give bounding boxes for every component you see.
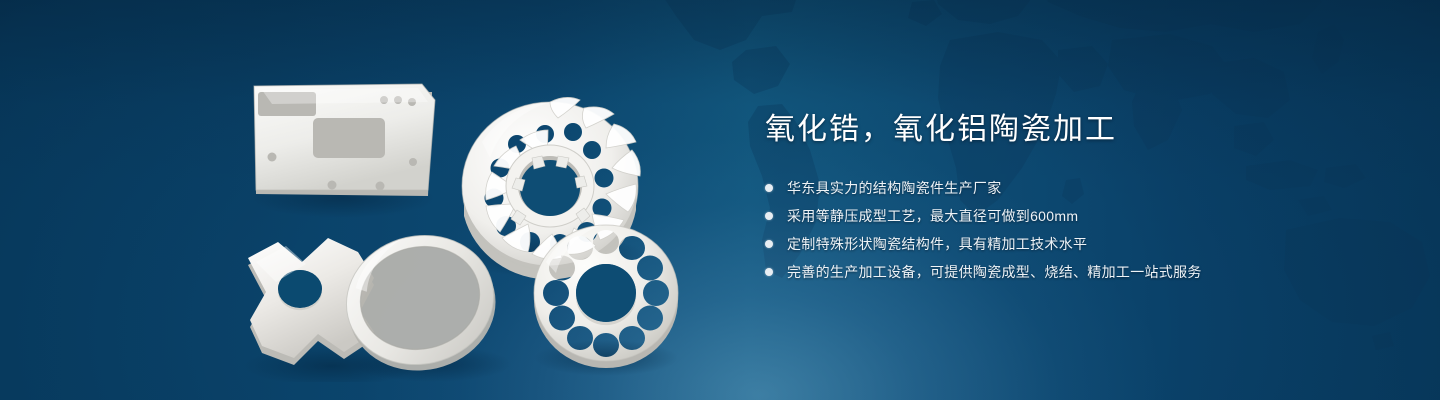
list-item-label: 华东具实力的结构陶瓷件生产厂家 [787,178,1002,198]
ceramic-hero-banner: 氧化锆，氧化铝陶瓷加工 华东具实力的结构陶瓷件生产厂家 采用等静压成型工艺，最大… [0,0,1440,400]
bullet-dot-icon [765,184,773,192]
bullet-dot-icon [765,212,773,220]
list-item: 定制特殊形状陶瓷结构件，具有精加工技术水平 [765,234,1385,254]
page-title: 氧化锆，氧化铝陶瓷加工 [765,110,1385,150]
bullet-dot-icon [765,240,773,248]
list-item-label: 定制特殊形状陶瓷结构件，具有精加工技术水平 [787,234,1087,254]
list-item: 完善的生产加工设备，可提供陶瓷成型、烧结、精加工一站式服务 [765,262,1385,282]
list-item: 华东具实力的结构陶瓷件生产厂家 [765,178,1385,198]
list-item-label: 采用等静压成型工艺，最大直径可做到600mm [787,206,1078,226]
bullet-dot-icon [765,268,773,276]
feature-list: 华东具实力的结构陶瓷件生产厂家 采用等静压成型工艺，最大直径可做到600mm 定… [765,178,1385,282]
list-item-label: 完善的生产加工设备，可提供陶瓷成型、烧结、精加工一站式服务 [787,262,1202,282]
banner-copy: 氧化锆，氧化铝陶瓷加工 华东具实力的结构陶瓷件生产厂家 采用等静压成型工艺，最大… [765,110,1385,290]
list-item: 采用等静压成型工艺，最大直径可做到600mm [765,206,1385,226]
